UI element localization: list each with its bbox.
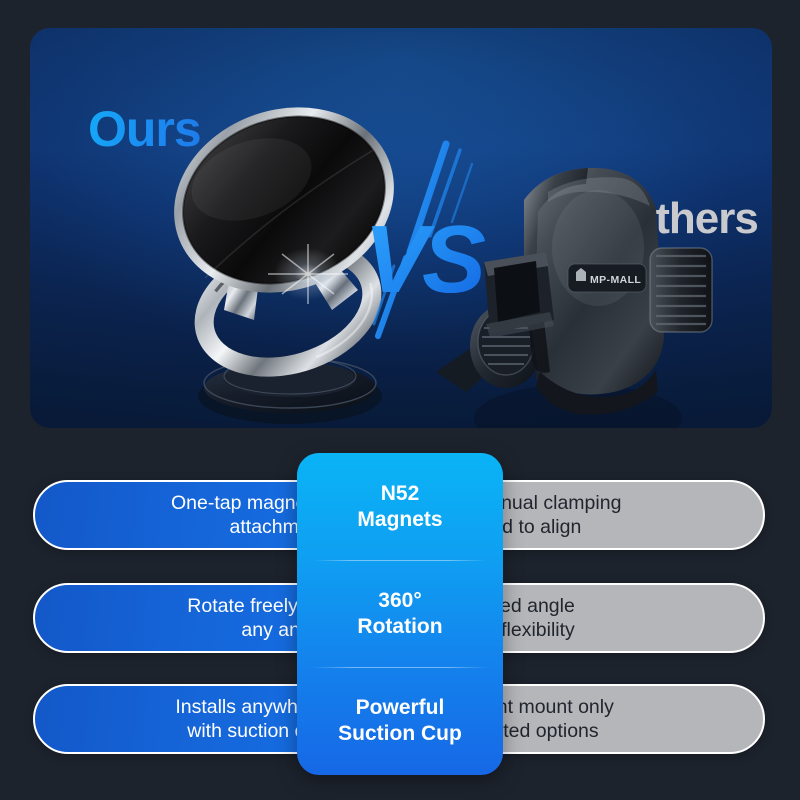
feature-text-2-line2: Rotation: [357, 614, 442, 640]
feature-text-3-line2: Suction Cup: [338, 721, 462, 747]
feature-cell-3: Powerful Suction Cup: [297, 667, 503, 774]
feature-text-1-line1: N52: [381, 481, 420, 507]
label-ours: Ours: [88, 100, 201, 158]
feature-text-1-line2: Magnets: [357, 507, 442, 533]
feature-text-2-line1: 360°: [378, 588, 421, 614]
hero-banner: MP-MALL: [30, 28, 772, 428]
feature-divider-1: [313, 560, 487, 561]
feature-cell-1: N52 Magnets: [297, 453, 503, 560]
brand-plate: MP-MALL: [568, 264, 646, 292]
comparison-infographic: MP-MALL: [0, 0, 800, 800]
feature-highlight-column: N52 Magnets 360° Rotation Powerful Sucti…: [297, 453, 503, 775]
svg-text:MP-MALL: MP-MALL: [590, 274, 641, 286]
feature-cell-2: 360° Rotation: [297, 560, 503, 667]
versus-badge: VS: [360, 140, 495, 355]
feature-divider-2: [313, 667, 487, 668]
comparison-table: One-tap magnetic attachment Manual clamp…: [0, 448, 800, 788]
svg-text:VS: VS: [364, 206, 486, 313]
feature-text-3-line1: Powerful: [356, 695, 445, 721]
